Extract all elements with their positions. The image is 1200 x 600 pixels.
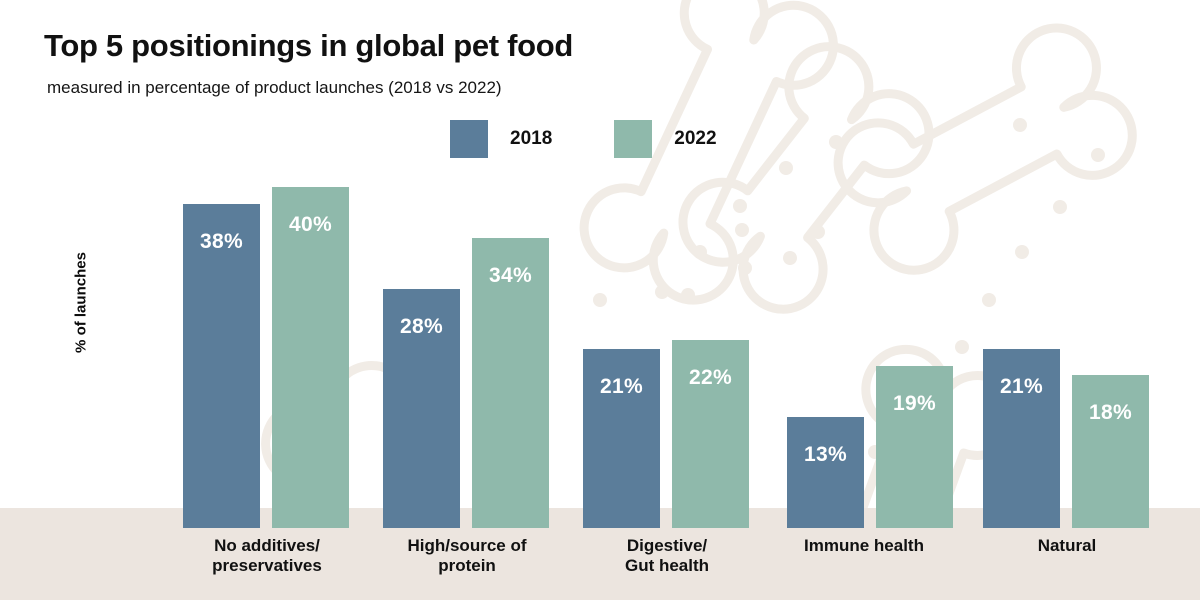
- category-label-line: High/source of: [362, 536, 572, 556]
- category-label-1: No additives/preservatives: [162, 536, 372, 576]
- bar-value-label: 22%: [672, 366, 749, 390]
- chart-canvas: Top 5 positionings in global pet food me…: [0, 0, 1200, 600]
- bar-2018-2[interactable]: 28%: [383, 289, 460, 528]
- category-label-line: No additives/: [162, 536, 372, 556]
- category-label-3: Digestive/Gut health: [562, 536, 772, 576]
- bar-value-label: 34%: [472, 264, 549, 288]
- category-label-5: Natural: [962, 536, 1172, 556]
- bar-2022-1[interactable]: 40%: [272, 187, 349, 528]
- category-label-line: Immune health: [759, 536, 969, 556]
- bar-value-label: 28%: [383, 315, 460, 339]
- bar-2022-5[interactable]: 18%: [1072, 375, 1149, 528]
- bar-2018-4[interactable]: 13%: [787, 417, 864, 528]
- category-label-line: preservatives: [162, 556, 372, 576]
- category-label-line: Gut health: [562, 556, 772, 576]
- bar-2022-3[interactable]: 22%: [672, 340, 749, 528]
- category-label-2: High/source ofprotein: [362, 536, 572, 576]
- bar-2018-1[interactable]: 38%: [183, 204, 260, 528]
- bar-value-label: 19%: [876, 392, 953, 416]
- category-label-line: Digestive/: [562, 536, 772, 556]
- bar-value-label: 38%: [183, 230, 260, 254]
- bar-value-label: 21%: [983, 375, 1060, 399]
- bar-2018-5[interactable]: 21%: [983, 349, 1060, 528]
- bar-value-label: 40%: [272, 213, 349, 237]
- bar-2022-2[interactable]: 34%: [472, 238, 549, 528]
- category-label-line: Natural: [962, 536, 1172, 556]
- category-label-4: Immune health: [759, 536, 969, 556]
- category-label-line: protein: [362, 556, 572, 576]
- bar-2022-4[interactable]: 19%: [876, 366, 953, 528]
- plot-area: 38%40%No additives/preservatives28%34%Hi…: [0, 0, 1200, 600]
- bar-value-label: 21%: [583, 375, 660, 399]
- bar-2018-3[interactable]: 21%: [583, 349, 660, 528]
- bar-value-label: 18%: [1072, 401, 1149, 425]
- bar-value-label: 13%: [787, 443, 864, 467]
